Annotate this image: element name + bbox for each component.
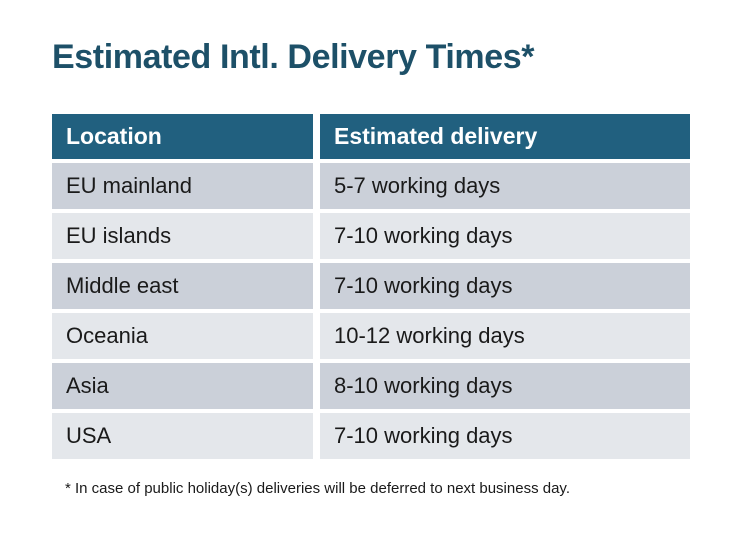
delivery-times-page: Estimated Intl. Delivery Times* Location… [0, 0, 745, 536]
cell-estimated-delivery: 10-12 working days [320, 313, 690, 359]
table-header-row: Location Estimated delivery [52, 114, 690, 159]
cell-location: Middle east [52, 263, 313, 309]
cell-location: Asia [52, 363, 313, 409]
page-title: Estimated Intl. Delivery Times* [52, 36, 534, 78]
cell-location: Oceania [52, 313, 313, 359]
cell-estimated-delivery: 7-10 working days [320, 413, 690, 459]
table-row: EU mainland 5-7 working days [52, 163, 690, 209]
table-row: Oceania 10-12 working days [52, 313, 690, 359]
cell-location: EU mainland [52, 163, 313, 209]
cell-location: EU islands [52, 213, 313, 259]
cell-location: USA [52, 413, 313, 459]
footnote-text: * In case of public holiday(s) deliverie… [65, 480, 570, 497]
cell-estimated-delivery: 7-10 working days [320, 263, 690, 309]
cell-estimated-delivery: 7-10 working days [320, 213, 690, 259]
table-row: Middle east 7-10 working days [52, 263, 690, 309]
table-row: Asia 8-10 working days [52, 363, 690, 409]
table-row: USA 7-10 working days [52, 413, 690, 459]
delivery-times-table: Location Estimated delivery EU mainland … [52, 114, 690, 459]
column-header-location: Location [52, 114, 313, 159]
cell-estimated-delivery: 5-7 working days [320, 163, 690, 209]
cell-estimated-delivery: 8-10 working days [320, 363, 690, 409]
table-row: EU islands 7-10 working days [52, 213, 690, 259]
column-header-estimated-delivery: Estimated delivery [320, 114, 690, 159]
